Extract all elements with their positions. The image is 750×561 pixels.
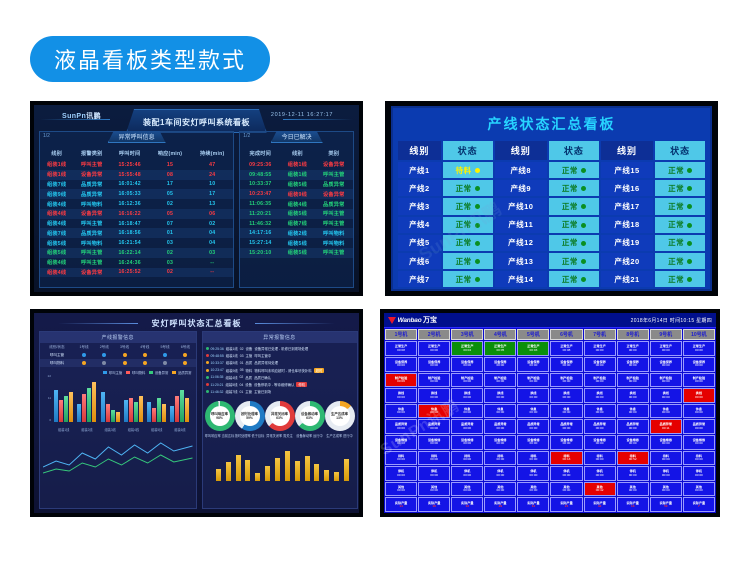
status-cell[interactable]: 停机00:00 <box>385 466 417 481</box>
log-line: 组装7线 <box>225 389 237 394</box>
status-cell[interactable]: 停机00:00 <box>550 466 582 481</box>
line-name-cell[interactable]: 产线16 <box>601 180 654 196</box>
gauge-percent: 13% <box>331 416 348 420</box>
status-dot-icon <box>183 353 187 357</box>
table-cell: 呼叫主管 <box>73 160 110 170</box>
status-cell[interactable]: 设备保养00:00 <box>617 357 649 372</box>
status-dot-icon <box>102 353 106 357</box>
bar <box>139 396 143 422</box>
line-status-cell[interactable]: 正常 <box>549 180 599 196</box>
line-name-cell[interactable]: 产线20 <box>601 253 654 269</box>
line-name-cell[interactable]: 产线13 <box>495 253 548 269</box>
status-cell[interactable]: 休息00:00 <box>385 404 417 419</box>
status-cell[interactable]: 休息00:00 <box>650 404 682 419</box>
log-type: 设备 <box>246 346 253 351</box>
status-cell[interactable]: 其他00:00 <box>385 482 417 497</box>
status-cell[interactable]: 其他00:00 <box>484 482 516 497</box>
table-row: 组装7线品质异常16:18:560104 <box>40 228 233 238</box>
cell-value: 00:00 <box>596 442 604 445</box>
log-tag: 超时 <box>314 368 325 373</box>
gauge-text: 异常关闭率63% <box>271 412 288 421</box>
table-cell: 呼叫物料 <box>315 238 353 248</box>
table-cell: 17 <box>191 189 233 199</box>
status-cell[interactable]: 设备保养00:00 <box>517 357 549 372</box>
line-name-cell[interactable]: 产线5 <box>398 235 441 251</box>
status-cell[interactable]: 设备维修00:00 <box>683 435 715 450</box>
line-status-cell[interactable]: 正常 <box>549 198 599 214</box>
status-cell[interactable]: 其他00:00 <box>418 482 450 497</box>
line-status-cell[interactable]: 正常 <box>655 271 705 287</box>
line-name-cell[interactable]: 产线2 <box>398 180 441 196</box>
status-cell[interactable]: 设备维修00:00 <box>617 435 649 450</box>
status-cell[interactable]: 实际产量7 <box>683 497 715 512</box>
log-no: 05 <box>240 368 244 372</box>
status-label: 正常 <box>562 275 578 284</box>
machine-column-header[interactable]: 7号机 <box>584 329 616 340</box>
cell-value: 18 <box>432 505 435 508</box>
status-cell[interactable]: 停机00:00 <box>418 466 450 481</box>
status-cell[interactable]: 品质异常00:00 <box>418 419 450 434</box>
status-cell[interactable]: 正常生产00:00 <box>683 341 715 356</box>
log-line: 组装9线 <box>226 368 238 373</box>
status-cell[interactable]: 正常生产00:08 <box>550 341 582 356</box>
status-cell[interactable]: 停机00:00 <box>650 466 682 481</box>
status-cell[interactable]: 待料00:00 <box>584 451 616 466</box>
log-line: 组装4线 <box>225 375 237 380</box>
status-cell <box>94 351 114 359</box>
line-name-cell[interactable]: 产线15 <box>601 162 654 178</box>
status-cell[interactable]: 实际产量14 <box>517 497 549 512</box>
bar <box>180 390 184 422</box>
table-cell: 组装4线 <box>40 268 73 278</box>
line-name-cell[interactable]: 产线8 <box>495 162 548 178</box>
cell-value: 00:00 <box>430 427 438 430</box>
cell-value: 29 <box>499 505 502 508</box>
machine-column-header[interactable]: 1号机 <box>385 329 417 340</box>
log-no: 04 <box>240 383 244 387</box>
status-cell[interactable]: 其他00:42 <box>584 482 616 497</box>
status-cell[interactable]: 设备维修00:00 <box>650 435 682 450</box>
status-label: 正常 <box>456 238 472 247</box>
line-status-cell[interactable]: 正常 <box>655 162 705 178</box>
status-cell[interactable]: 实际产量21 <box>550 497 582 512</box>
panel1-datetime: 2019-12-11 16:27:17 <box>271 112 333 118</box>
status-cell[interactable]: 设备保养00:00 <box>650 357 682 372</box>
status-dot-icon <box>581 277 586 282</box>
column-header: 线别 <box>40 148 73 160</box>
bar <box>59 400 63 422</box>
machine-column-header[interactable]: 10号机 <box>683 329 715 340</box>
status-cell[interactable]: 其他00:00 <box>517 482 549 497</box>
status-cell[interactable]: 待料00:00 <box>385 451 417 466</box>
cell-value: 00:00 <box>463 489 471 492</box>
cell-value: 14 <box>399 505 402 508</box>
line-status-cell[interactable]: 正常 <box>655 235 705 251</box>
log-type: 品质 <box>246 360 253 365</box>
cell-value: 00:00 <box>695 396 703 399</box>
table-cell: 呼叫物料 <box>73 199 110 209</box>
status-dot-icon <box>206 369 209 372</box>
log-no: 02 <box>240 375 244 379</box>
status-cell[interactable]: 换线00:00 <box>650 388 682 403</box>
line-status-cell[interactable]: 正常 <box>549 271 599 287</box>
status-cell[interactable]: 实际产量18 <box>418 497 450 512</box>
status-cell[interactable]: 制产检验00:00 <box>418 373 450 388</box>
line-name-cell[interactable]: 产线17 <box>601 198 654 214</box>
line-status-cell[interactable]: 正常 <box>443 180 493 196</box>
log-time: 11:46:32 <box>211 390 224 394</box>
log-item: 11:06:35组装4线02品质品质已确认 <box>206 374 354 381</box>
cell-value: 00:00 <box>629 396 637 399</box>
table-cell: 呼叫主管 <box>73 248 110 258</box>
line-status-cell[interactable]: 正常 <box>549 235 599 251</box>
line-name-cell[interactable]: 产线1 <box>398 162 441 178</box>
machine-column-header[interactable]: 9号机 <box>650 329 682 340</box>
status-cell[interactable]: 设备保养00:00 <box>385 357 417 372</box>
status-cell[interactable]: 正常生产00:04 <box>451 341 483 356</box>
status-cell[interactable]: 换线00:00 <box>484 388 516 403</box>
status-cell[interactable]: 实际产量13 <box>451 497 483 512</box>
status-cell[interactable]: 设备保养00:00 <box>451 357 483 372</box>
cell-value: 00:00 <box>397 489 405 492</box>
line-status-cell[interactable]: 正常 <box>549 217 599 233</box>
table-header-row: 线别/状态1号线2号线3号线4号线5号线6号线 <box>40 343 196 351</box>
bar <box>305 456 310 482</box>
line-status-cell[interactable]: 待料 <box>443 162 493 178</box>
bar <box>129 398 133 422</box>
status-cell[interactable]: 其他00:00 <box>683 482 715 497</box>
line-status-cell[interactable]: 正常 <box>443 271 493 287</box>
status-cell[interactable]: 设备保养00:00 <box>418 357 450 372</box>
status-cell[interactable]: 设备维修00:00 <box>517 435 549 450</box>
status-cell[interactable]: 休息00:00 <box>550 404 582 419</box>
line-status-cell[interactable]: 正常 <box>443 217 493 233</box>
machine-column: 正常生产00:03设备保养00:00制产检验00:00换线00:00休息00:0… <box>517 341 549 512</box>
line-alarm-section: 产线报警信息 线别/状态1号线2号线3号线4号线5号线6号线 呼叫主管呼叫物料 … <box>39 331 197 509</box>
status-cell[interactable]: 休息00:00 <box>418 404 450 419</box>
cell-value: 00:00 <box>463 458 471 461</box>
table-cell: 设备异常 <box>315 160 353 170</box>
cell-value: 00:00 <box>662 411 670 414</box>
line-status-cell[interactable]: 正常 <box>549 253 599 269</box>
table-row: 组装9线品质异常16:05:330517 <box>40 189 233 199</box>
status-cell[interactable]: 换线00:00 <box>385 388 417 403</box>
cell-value: 00:00 <box>629 442 637 445</box>
status-cell <box>155 351 175 359</box>
status-cell[interactable]: 设备维修00:00 <box>584 435 616 450</box>
status-cell[interactable]: 品质异常00:00 <box>385 419 417 434</box>
line-name-cell[interactable]: 产线4 <box>398 217 441 233</box>
bar <box>101 392 105 422</box>
status-cell[interactable]: 换线00:00 <box>418 388 450 403</box>
line-status-cell[interactable]: 正常 <box>549 162 599 178</box>
line-status-cell[interactable]: 正常 <box>655 180 705 196</box>
table-row: 组装5线呼叫主管16:22:140203 <box>40 248 233 258</box>
status-cell[interactable]: 实际产量14 <box>385 497 417 512</box>
status-cell[interactable]: 停机00:00 <box>451 466 483 481</box>
status-cell[interactable]: 停机00:00 <box>617 466 649 481</box>
machine-column: 正常生产00:05设备保养00:00制产检验00:00换线00:00休息00:0… <box>484 341 516 512</box>
status-cell[interactable]: 设备保养00:00 <box>550 357 582 372</box>
bar <box>275 458 280 481</box>
status-cell[interactable]: 制产检验00:06 <box>385 373 417 388</box>
log-message: 物料呼叫未响应超时 - 请仓库尽快补料 <box>254 368 311 373</box>
status-cell[interactable]: 停机00:00 <box>584 466 616 481</box>
cell-value: 00:00 <box>695 474 703 477</box>
cell-value: 00:00 <box>695 458 703 461</box>
machine-column-header[interactable]: 5号机 <box>517 329 549 340</box>
table-cell: 05 <box>149 209 191 219</box>
status-cell[interactable]: 休息00:00 <box>517 404 549 419</box>
table-cell: 03 <box>149 238 191 248</box>
bar <box>175 396 179 422</box>
machine-column-header[interactable]: 4号机 <box>484 329 516 340</box>
cell-value: 00:00 <box>695 364 703 367</box>
status-cell <box>135 359 155 367</box>
status-cell[interactable]: 待料00:52 <box>617 451 649 466</box>
table-row: 产线3正常产线10正常产线17正常 <box>398 198 705 214</box>
cell-value: 21 <box>565 505 568 508</box>
status-cell[interactable]: 待料00:13 <box>550 451 582 466</box>
status-cell[interactable]: 休息00:00 <box>683 404 715 419</box>
cell-value: 00:00 <box>629 474 637 477</box>
status-cell[interactable]: 品质异常00:00 <box>584 419 616 434</box>
status-cell[interactable]: 停机00:00 <box>517 466 549 481</box>
status-cell[interactable]: 设备维修00:00 <box>484 435 516 450</box>
cell-value: 00:00 <box>695 442 703 445</box>
line-status-cell[interactable]: 正常 <box>443 235 493 251</box>
status-cell[interactable]: 换线00:00 <box>584 388 616 403</box>
cell-value: 00:08 <box>563 349 571 352</box>
status-cell[interactable]: 设备保养00:00 <box>683 357 715 372</box>
status-cell[interactable]: 休息00:00 <box>584 404 616 419</box>
line-status-cell[interactable]: 正常 <box>443 198 493 214</box>
status-cell[interactable]: 待料00:00 <box>418 451 450 466</box>
bar <box>106 404 110 422</box>
table-cell: 组装9线 <box>280 189 314 199</box>
status-cell[interactable]: 品质异常00:00 <box>617 419 649 434</box>
machine-column: 正常生产00:08设备保养00:00制产检验00:06换线00:00休息00:0… <box>385 341 417 512</box>
line-status-cell[interactable]: 正常 <box>655 198 705 214</box>
machine-column-header[interactable]: 2号机 <box>418 329 450 340</box>
line-name-cell[interactable]: 产线10 <box>495 198 548 214</box>
log-time: 09:48:55 <box>211 354 224 358</box>
status-cell[interactable]: 正常生产00:08 <box>385 341 417 356</box>
line-name-cell[interactable]: 产线9 <box>495 180 548 196</box>
column-header: 类别 <box>315 148 353 160</box>
abnormal-call-page: 1/2 <box>43 133 50 139</box>
status-cell <box>175 359 195 367</box>
status-cell[interactable]: 实际产量29 <box>484 497 516 512</box>
status-cell[interactable]: 待料00:00 <box>517 451 549 466</box>
gauge-caption: 设备稼动率 运行中 <box>295 433 325 438</box>
status-cell[interactable]: 停机00:00 <box>683 466 715 481</box>
status-cell[interactable]: 制产检验00:00 <box>484 373 516 388</box>
status-cell[interactable]: 休息00:00 <box>617 404 649 419</box>
status-cell[interactable]: 换线00:00 <box>550 388 582 403</box>
cell-value: 00:00 <box>397 411 405 414</box>
status-cell[interactable]: 品质异常00:00 <box>484 419 516 434</box>
machine-column-header[interactable]: 8号机 <box>617 329 649 340</box>
status-cell[interactable]: 品质异常00:00 <box>683 419 715 434</box>
line-status-cell[interactable]: 正常 <box>443 253 493 269</box>
status-dot-icon <box>206 347 209 350</box>
status-cell[interactable]: 设备保养00:00 <box>584 357 616 372</box>
status-cell[interactable]: 正常生产00:00 <box>418 341 450 356</box>
line-name-cell[interactable]: 产线14 <box>495 271 548 287</box>
status-cell[interactable]: 制产检验00:00 <box>617 373 649 388</box>
line-name-cell[interactable]: 产线12 <box>495 235 548 251</box>
status-dot-icon <box>123 361 127 365</box>
abnormal-call-table: 线别报警类别呼叫时间响应(min)持续(min) 组装1线呼叫主管15:25:4… <box>40 148 233 277</box>
line-status-cell[interactable]: 正常 <box>655 217 705 233</box>
status-cell[interactable]: 制产检验00:00 <box>683 373 715 388</box>
column-header: 5号线 <box>155 343 175 351</box>
column-header: 3号线 <box>114 343 134 351</box>
status-cell[interactable]: 制产检验00:00 <box>584 373 616 388</box>
bar <box>295 461 300 481</box>
bar <box>111 410 115 422</box>
status-dot-icon <box>475 259 480 264</box>
status-cell[interactable]: 制产检验00:00 <box>517 373 549 388</box>
status-cell[interactable]: 正常生产00:00 <box>584 341 616 356</box>
status-dot-icon <box>687 259 692 264</box>
cell-value: 00:00 <box>629 489 637 492</box>
status-cell[interactable]: 待料00:00 <box>484 451 516 466</box>
status-cell[interactable]: 品质异常00:00 <box>451 419 483 434</box>
gauge-text: 设备稼动率63% <box>301 412 318 421</box>
table-cell: 组装1线 <box>40 160 73 170</box>
status-cell[interactable]: 换线00:00 <box>617 388 649 403</box>
line-name-cell[interactable]: 产线19 <box>601 235 654 251</box>
header-deco-right <box>283 119 353 120</box>
bar <box>134 402 138 422</box>
status-cell[interactable]: 正常生产00:05 <box>484 341 516 356</box>
line-name-cell[interactable]: 产线11 <box>495 217 548 233</box>
status-cell[interactable]: 品质异常00:11 <box>650 419 682 434</box>
bar <box>185 398 189 422</box>
status-dot-icon <box>581 259 586 264</box>
table-cell: 组装5线 <box>40 248 73 258</box>
abnormal-call-box: 1/2 异常呼叫信息 线别报警类别呼叫时间响应(min)持续(min) 组装1线… <box>39 131 234 288</box>
table-row: 10:33:37组装5线品质异常 <box>240 180 353 190</box>
x-tick: 组装2线 <box>81 427 92 432</box>
table-cell: 呼叫主管 <box>315 209 353 219</box>
log-type: 主管 <box>245 389 252 394</box>
status-dot-icon <box>475 241 480 246</box>
status-cell[interactable]: 实际产量50 <box>650 497 682 512</box>
machine-column-header[interactable]: 6号机 <box>550 329 582 340</box>
table-cell: 16:24:36 <box>110 258 149 268</box>
status-cell[interactable]: 休息00:00 <box>484 404 516 419</box>
status-cell[interactable]: 正常生产00:00 <box>617 341 649 356</box>
column-header: 6号线 <box>175 343 195 351</box>
cell-value: 00:00 <box>397 442 405 445</box>
line-name-cell[interactable]: 产线21 <box>601 271 654 287</box>
cell-value: 00:00 <box>496 411 504 414</box>
status-dot-icon <box>475 168 480 173</box>
status-cell[interactable]: 待料00:00 <box>683 451 715 466</box>
status-cell[interactable]: 休息00:00 <box>451 404 483 419</box>
status-label: 正常 <box>562 166 578 175</box>
machine-column-header[interactable]: 3号机 <box>451 329 483 340</box>
table-row: 组装1线呼叫主管15:25:461547 <box>40 160 233 170</box>
kpi-gauge-row: 呼叫响应率98%呼叫响应率 当前达标按时处理率59%按时处理率 低于目标异常关闭… <box>203 397 357 442</box>
column-header: 状态 <box>443 141 493 160</box>
table-cell: 组装4线 <box>40 258 73 268</box>
table-row: 11:06:35组装4线品质异常 <box>240 199 353 209</box>
table-cell: 呼叫主管 <box>315 219 353 229</box>
status-cell[interactable]: 设备维修00:00 <box>418 435 450 450</box>
status-cell[interactable]: 制产检验00:00 <box>451 373 483 388</box>
log-type: 设备 <box>245 382 252 387</box>
status-cell[interactable]: 待料00:00 <box>650 451 682 466</box>
bar <box>87 388 91 422</box>
status-dot-icon <box>143 353 147 357</box>
status-cell[interactable]: 换线00:00 <box>517 388 549 403</box>
line-name-cell[interactable]: 产线18 <box>601 217 654 233</box>
status-cell[interactable]: 其他00:00 <box>650 482 682 497</box>
status-cell[interactable]: 设备保养00:00 <box>484 357 516 372</box>
status-cell[interactable]: 其他00:00 <box>617 482 649 497</box>
status-cell[interactable]: 待料00:00 <box>451 451 483 466</box>
bar-group <box>77 378 96 422</box>
table-row: 11:20:21组装5线呼叫主管 <box>240 209 353 219</box>
cell-value: 50 <box>664 505 667 508</box>
kpi-gauge: 呼叫响应率98%呼叫响应率 当前达标 <box>205 401 235 438</box>
machine-column-headers: 1号机2号机3号机4号机5号机6号机7号机8号机9号机10号机 <box>384 328 716 341</box>
status-cell[interactable]: 品质异常00:00 <box>517 419 549 434</box>
line-name-cell[interactable]: 产线3 <box>398 198 441 214</box>
cell-value: 00:00 <box>463 396 471 399</box>
line-status-cell[interactable]: 正常 <box>655 253 705 269</box>
status-cell[interactable]: 设备维修00:00 <box>451 435 483 450</box>
table-cell: 15 <box>149 160 191 170</box>
cell-value: 00:00 <box>397 458 405 461</box>
status-cell[interactable]: 正常生产00:00 <box>650 341 682 356</box>
status-cell[interactable]: 实际产量42 <box>584 497 616 512</box>
cell-value: 00:00 <box>496 396 504 399</box>
status-dot-icon <box>687 277 692 282</box>
cell-value: 00:00 <box>563 427 571 430</box>
machine-column: 正常生产00:00设备保养00:00制产检验00:00换线00:00休息00:0… <box>418 341 450 512</box>
line-name-cell[interactable]: 产线6 <box>398 253 441 269</box>
bar <box>157 398 161 422</box>
status-cell[interactable]: 制产检验00:00 <box>650 373 682 388</box>
status-cell[interactable]: 其他00:00 <box>550 482 582 497</box>
status-cell[interactable]: 品质异常00:00 <box>550 419 582 434</box>
chart-x-labels: 组装1线组装2线组装3线组装4线组装5线组装6线 <box>52 427 192 432</box>
alarm-log-list: 09:25:36组装1线02设备设备异常已处理 - 机修已到现场处理09:48:… <box>203 343 357 397</box>
status-cell[interactable]: 制产检验00:00 <box>550 373 582 388</box>
status-cell[interactable]: 实际产量13 <box>617 497 649 512</box>
table-cell: 10 <box>191 180 233 190</box>
log-message: 品质异常待处理 <box>254 360 278 365</box>
status-dot-icon <box>687 204 692 209</box>
status-cell[interactable]: 正常生产00:03 <box>517 341 549 356</box>
status-cell[interactable]: 换线00:00 <box>683 388 715 403</box>
table-cell: 01 <box>149 228 191 238</box>
status-cell[interactable]: 设备维修00:00 <box>385 435 417 450</box>
line-name-cell[interactable]: 产线7 <box>398 271 441 287</box>
cell-value: 00:00 <box>662 349 670 352</box>
status-label: 正常 <box>456 275 472 284</box>
cell-value: 00:00 <box>430 442 438 445</box>
status-cell[interactable]: 其他00:00 <box>451 482 483 497</box>
status-cell[interactable]: 换线00:00 <box>451 388 483 403</box>
status-cell[interactable]: 停机00:00 <box>484 466 516 481</box>
status-cell[interactable]: 设备维修00:00 <box>550 435 582 450</box>
